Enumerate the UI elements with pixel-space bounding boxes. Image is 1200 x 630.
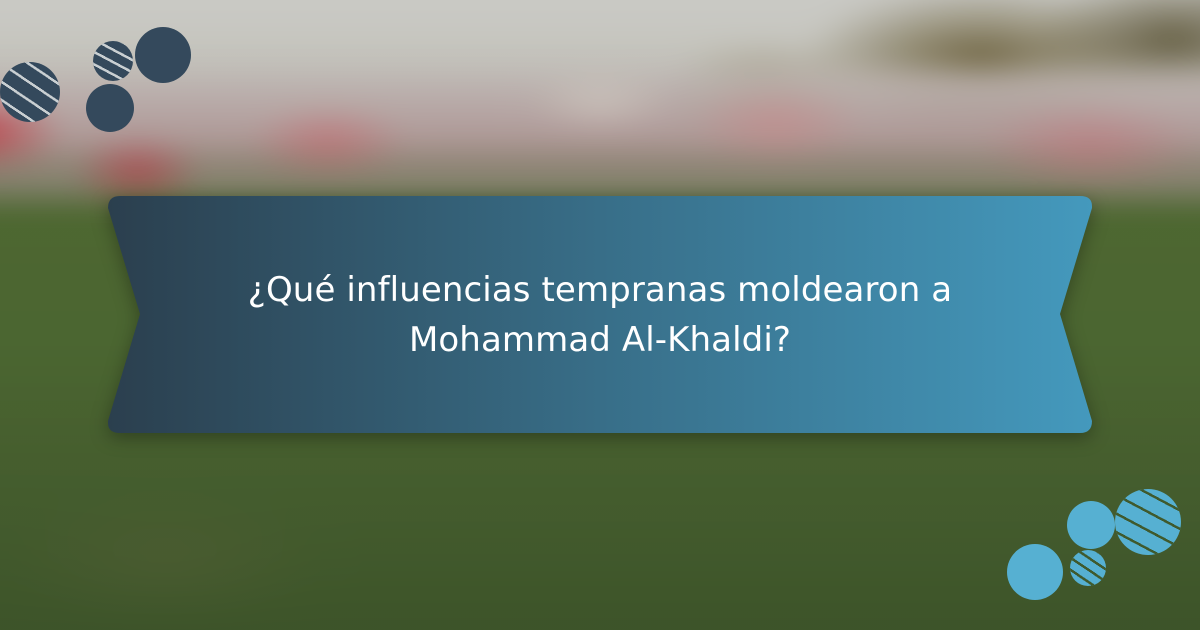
decoration-cluster-bottom-right <box>980 470 1200 630</box>
decoration-circle-stripes <box>93 41 133 81</box>
decoration-circle-stripes <box>1115 489 1181 555</box>
decoration-circle <box>1007 544 1063 600</box>
ribbon-path <box>108 196 1092 433</box>
decoration-circle <box>1067 501 1115 549</box>
question-card: ¿Qué influencias tempranas moldearon a M… <box>0 0 1200 630</box>
decoration-cluster-top-left <box>0 0 220 160</box>
decoration-circle <box>1115 489 1181 555</box>
decoration-circle <box>86 84 134 132</box>
decoration-circle <box>1070 550 1106 586</box>
decoration-circle <box>93 41 133 81</box>
decoration-circle <box>0 62 60 122</box>
ribbon-shape <box>108 196 1092 433</box>
ribbon-shadow <box>108 196 1092 433</box>
decoration-circle-stripes <box>0 62 60 122</box>
decoration-circle-stripes <box>1070 550 1106 586</box>
decoration-circle <box>135 27 191 83</box>
ribbon-banner: ¿Qué influencias tempranas moldearon a M… <box>108 196 1092 433</box>
